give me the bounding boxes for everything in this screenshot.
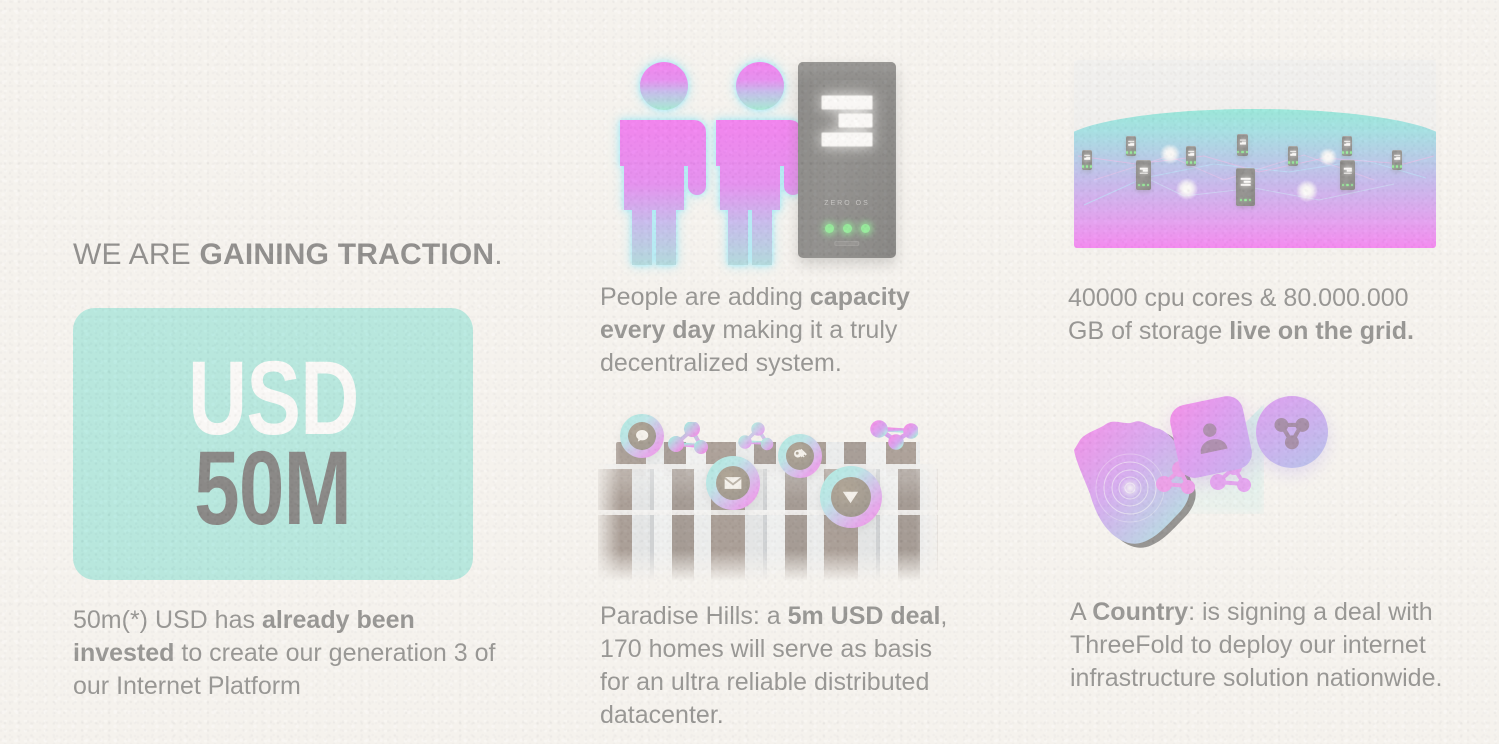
person-icon [620, 60, 708, 265]
global-grid-illustration [1074, 60, 1436, 248]
glow-dot [1176, 178, 1198, 200]
grid-node [1237, 134, 1248, 156]
grid-node [1288, 146, 1298, 166]
grid-node [1236, 168, 1255, 206]
left-caption: 50m(*) USD has already been invested to … [73, 604, 498, 703]
right-caption-1-strong: live on the grid. [1229, 317, 1414, 345]
mail-bubble-icon [706, 456, 760, 510]
key-bubble-icon [778, 434, 822, 478]
play-icon [831, 477, 871, 517]
people-and-node-illustration: ZERO OS [606, 55, 906, 265]
device-port [834, 241, 859, 246]
image-fade-left [594, 404, 620, 584]
grid-node [1392, 150, 1402, 170]
device-top-panel [798, 62, 896, 80]
middle-caption-1: People are adding capacity every day mak… [600, 281, 940, 380]
grid-node [1126, 136, 1136, 156]
play-bubble-icon [820, 466, 882, 528]
user-tile-card [1167, 393, 1255, 481]
mail-icon [716, 466, 751, 501]
chat-bubble-icon [620, 414, 664, 458]
column-right: 40000 cpu cores & 80.000.000 GB of stora… [1068, 0, 1448, 744]
headline-prefix: WE ARE [73, 238, 199, 271]
slide-canvas: WE ARE GAINING TRACTION. USD 50M 50m(*) … [0, 0, 1499, 744]
country-deal-illustration [1068, 392, 1408, 572]
threefold-logo-icon [822, 95, 873, 146]
grid-node [1186, 146, 1196, 166]
paradise-hills-illustration [598, 404, 938, 584]
middle-caption-2: Paradise Hills: a 5m USD deal, 170 homes… [600, 600, 960, 732]
middle-caption-2-prefix: Paradise Hills: a [600, 602, 788, 630]
device-label: ZERO OS [798, 200, 896, 207]
usd-amount-card: USD 50M [73, 308, 473, 580]
right-caption-1: 40000 cpu cores & 80.000.000 GB of stora… [1068, 282, 1438, 348]
grid-node [1136, 160, 1151, 190]
right-caption-2-strong: Country [1092, 598, 1188, 626]
key-icon [786, 442, 814, 470]
left-caption-prefix: 50m(*) USD has [73, 606, 262, 634]
person-icon [716, 60, 804, 265]
node-network-icon [738, 422, 774, 452]
node-network-icon [668, 422, 708, 456]
middle-caption-2-strong: 5m USD deal [788, 602, 941, 630]
headline-strong: GAINING TRACTION [199, 238, 494, 271]
page-title: WE ARE GAINING TRACTION. [73, 238, 503, 272]
threefold-3node-device: ZERO OS [798, 62, 896, 258]
grid-node [1340, 160, 1355, 190]
column-left: WE ARE GAINING TRACTION. USD 50M 50m(*) … [73, 0, 503, 744]
grid-node [1082, 150, 1092, 170]
usd-card-line-amount: 50M [194, 444, 351, 534]
grid-node [1342, 136, 1352, 156]
glow-dot [1160, 144, 1180, 164]
right-caption-2: A Country: is signing a deal with ThreeF… [1070, 596, 1450, 695]
image-fade-bottom [592, 550, 944, 590]
middle-caption-1-prefix: People are adding [600, 283, 810, 311]
image-fade-right [916, 404, 942, 584]
device-status-leds [798, 224, 896, 233]
network-node-circle [1256, 396, 1328, 468]
person-icon [1188, 414, 1234, 460]
glow-dot [1296, 180, 1318, 202]
glow-dot [1319, 148, 1337, 166]
chat-icon [628, 422, 656, 450]
column-middle: ZERO OS People are adding capacity every… [598, 0, 958, 744]
right-caption-2-prefix: A [1070, 598, 1092, 626]
node-network-icon [1271, 411, 1313, 453]
node-network-icon [870, 418, 918, 458]
headline-suffix: . [494, 238, 503, 271]
